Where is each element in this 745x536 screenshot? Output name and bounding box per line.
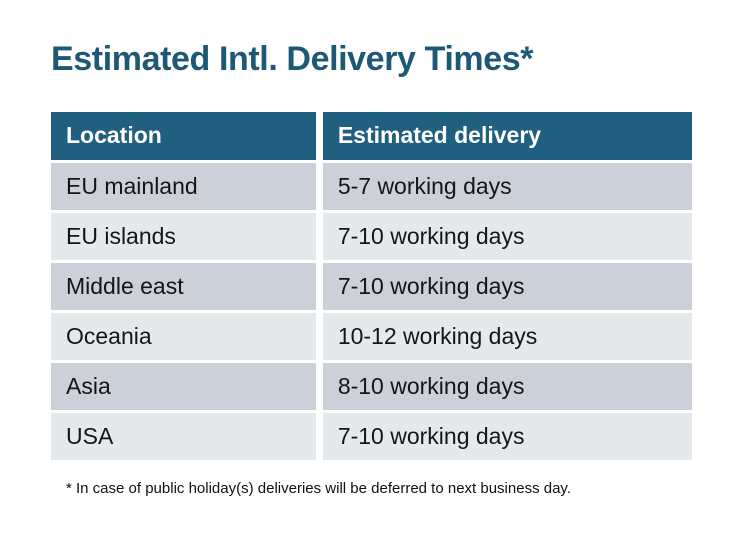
- table-row: Oceania 10-12 working days: [51, 310, 692, 360]
- table-row: Middle east 7-10 working days: [51, 260, 692, 310]
- column-header-location: Location: [51, 112, 323, 160]
- table-row: Asia 8-10 working days: [51, 360, 692, 410]
- cell-estimated-delivery: 8-10 working days: [323, 360, 692, 410]
- cell-location: USA: [51, 410, 323, 460]
- cell-estimated-delivery: 7-10 working days: [323, 260, 692, 310]
- footnote-text: * In case of public holiday(s) deliverie…: [66, 479, 571, 499]
- delivery-times-page: Estimated Intl. Delivery Times* Location…: [0, 0, 745, 536]
- cell-location: EU islands: [51, 210, 323, 260]
- table-row: EU mainland 5-7 working days: [51, 160, 692, 210]
- table-row: USA 7-10 working days: [51, 410, 692, 460]
- table-body: EU mainland 5-7 working days EU islands …: [51, 160, 692, 460]
- column-header-estimated-delivery: Estimated delivery: [323, 112, 692, 160]
- cell-location: EU mainland: [51, 160, 323, 210]
- table-row: EU islands 7-10 working days: [51, 210, 692, 260]
- cell-location: Asia: [51, 360, 323, 410]
- cell-location: Middle east: [51, 260, 323, 310]
- cell-location: Oceania: [51, 310, 323, 360]
- page-title: Estimated Intl. Delivery Times*: [51, 37, 533, 81]
- estimated-delivery-times-table: Location Estimated delivery EU mainland …: [51, 112, 692, 460]
- cell-estimated-delivery: 7-10 working days: [323, 410, 692, 460]
- cell-estimated-delivery: 7-10 working days: [323, 210, 692, 260]
- cell-estimated-delivery: 10-12 working days: [323, 310, 692, 360]
- table-header-row: Location Estimated delivery: [51, 112, 692, 160]
- cell-estimated-delivery: 5-7 working days: [323, 160, 692, 210]
